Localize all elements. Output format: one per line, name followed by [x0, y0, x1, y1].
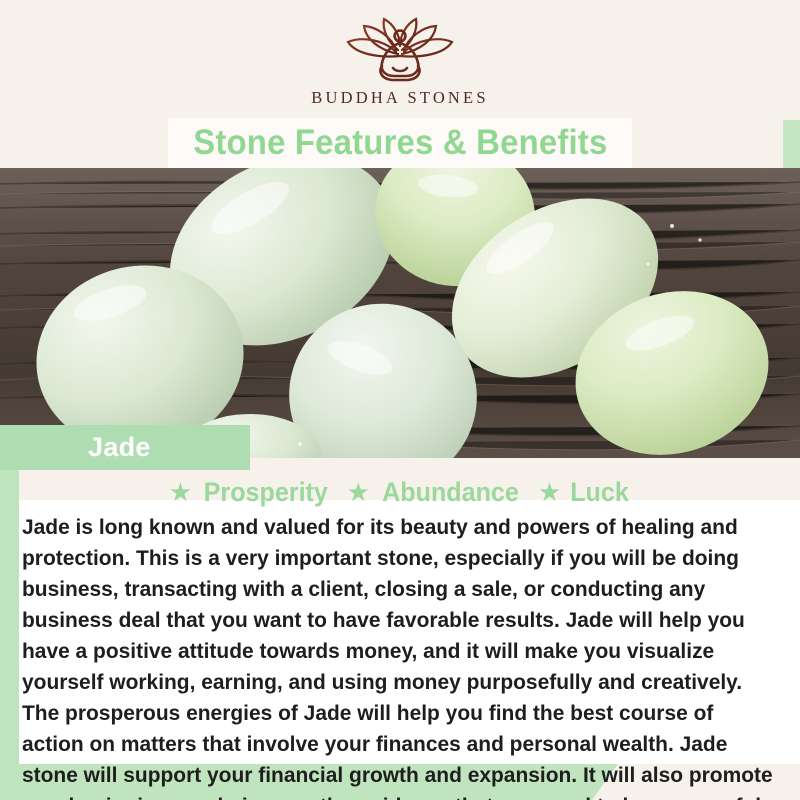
description-text: Jade is long known and valued for its be… [22, 511, 773, 800]
keyword-prosperity: ★ Prosperity [169, 477, 333, 508]
star-icon: ★ [347, 479, 370, 505]
title-band: Stone Features & Benefits [168, 118, 632, 168]
brand-wordmark: BUDDHA STONES [311, 88, 488, 108]
page-title: Stone Features & Benefits [193, 123, 607, 163]
keyword-row: ★ Prosperity ★ Abundance ★ Luck [0, 472, 800, 512]
keyword-label: Luck [570, 477, 629, 508]
star-icon: ★ [169, 479, 192, 505]
poster-root: BUDDHA STONES Stone Features & Benefits [0, 0, 800, 800]
stone-name-label: Jade [88, 432, 151, 463]
brand-header: BUDDHA STONES [0, 0, 800, 120]
description-block: Jade is long known and valued for its be… [19, 507, 800, 800]
star-icon: ★ [538, 479, 561, 505]
keyword-abundance: ★ Abundance [333, 477, 524, 508]
keyword-label: Prosperity [204, 477, 328, 508]
stone-name-band: Jade [0, 425, 250, 470]
keyword-luck: ★ Luck [524, 477, 631, 508]
keyword-label: Abundance [382, 477, 519, 508]
jade-stones-photo [0, 168, 800, 458]
lotus-meditation-icon [338, 16, 462, 86]
